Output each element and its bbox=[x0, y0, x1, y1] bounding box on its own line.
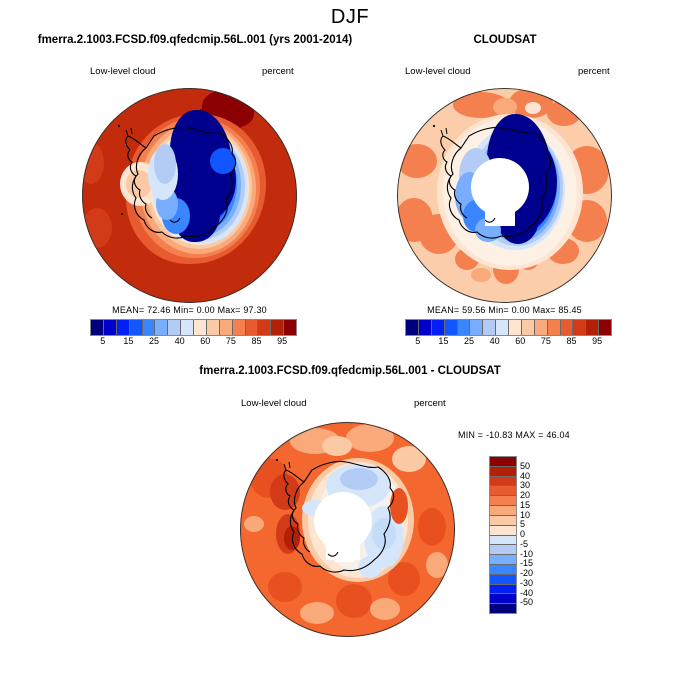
colorbar-tick-label: -30 bbox=[520, 578, 533, 588]
obs-units-label: percent bbox=[578, 66, 610, 77]
colorbar-tick-label: -15 bbox=[520, 558, 533, 568]
colorbar-tick-label: 15 bbox=[438, 336, 448, 346]
colorbar-swatch bbox=[432, 320, 445, 335]
model-colorbar[interactable] bbox=[90, 319, 297, 336]
coastline-outline bbox=[397, 88, 612, 303]
colorbar-swatch bbox=[130, 320, 143, 335]
model-colorbar-ticks: 515254060758595 bbox=[90, 336, 295, 348]
colorbar-tick-label: 5 bbox=[415, 336, 420, 346]
panel-title-difference: fmerra.2.1003.FCSD.f09.qfedcmip.56L.001 … bbox=[0, 365, 700, 377]
obs-map-disc bbox=[397, 88, 612, 303]
colorbar-swatch bbox=[490, 565, 516, 575]
colorbar-tick-label: 5 bbox=[100, 336, 105, 346]
obs-variable-label: Low-level cloud bbox=[405, 66, 470, 77]
colorbar-tick-label: 30 bbox=[520, 480, 530, 490]
colorbar-swatch bbox=[271, 320, 284, 335]
difference-map-disc bbox=[240, 422, 455, 637]
colorbar-tick-label: 75 bbox=[226, 336, 236, 346]
colorbar-tick-label: 0 bbox=[520, 529, 525, 539]
colorbar-tick-label: 50 bbox=[520, 461, 530, 471]
colorbar-swatch bbox=[483, 320, 496, 335]
colorbar-swatch bbox=[419, 320, 432, 335]
colorbar-swatch bbox=[535, 320, 548, 335]
panel-title-model: fmerra.2.1003.FCSD.f09.qfedcmip.56L.001 … bbox=[0, 34, 390, 46]
colorbar-swatch bbox=[490, 545, 516, 555]
colorbar-tick-label: 40 bbox=[175, 336, 185, 346]
colorbar-tick-label: 40 bbox=[490, 336, 500, 346]
colorbar-swatch bbox=[284, 320, 296, 335]
coastline-outline bbox=[240, 422, 455, 637]
colorbar-swatch bbox=[470, 320, 483, 335]
colorbar-tick-label: -40 bbox=[520, 588, 533, 598]
colorbar-swatch bbox=[490, 516, 516, 526]
coastline-outline bbox=[82, 88, 297, 303]
colorbar-swatch bbox=[490, 506, 516, 516]
colorbar-swatch bbox=[490, 457, 516, 467]
colorbar-tick-label: 75 bbox=[541, 336, 551, 346]
colorbar-tick-label: 85 bbox=[567, 336, 577, 346]
colorbar-swatch bbox=[490, 604, 516, 613]
colorbar-swatch bbox=[573, 320, 586, 335]
colorbar-tick-label: 10 bbox=[520, 510, 530, 520]
difference-variable-label: Low-level cloud bbox=[241, 398, 306, 409]
colorbar-swatch bbox=[233, 320, 246, 335]
colorbar-tick-label: 20 bbox=[520, 490, 530, 500]
model-variable-label: Low-level cloud bbox=[90, 66, 155, 77]
colorbar-tick-label: 60 bbox=[200, 336, 210, 346]
colorbar-swatch bbox=[143, 320, 156, 335]
colorbar-tick-label: -10 bbox=[520, 549, 533, 559]
model-units-label: percent bbox=[262, 66, 294, 77]
model-polar-map[interactable] bbox=[82, 88, 297, 303]
colorbar-swatch bbox=[561, 320, 574, 335]
colorbar-swatch bbox=[246, 320, 259, 335]
colorbar-swatch bbox=[406, 320, 419, 335]
colorbar-swatch bbox=[599, 320, 611, 335]
colorbar-tick-label: 40 bbox=[520, 471, 530, 481]
colorbar-tick-label: -20 bbox=[520, 568, 533, 578]
colorbar-swatch bbox=[490, 594, 516, 604]
colorbar-swatch bbox=[522, 320, 535, 335]
colorbar-tick-label: -5 bbox=[520, 539, 528, 549]
colorbar-swatch bbox=[117, 320, 130, 335]
colorbar-swatch bbox=[220, 320, 233, 335]
panel-title-obs: CLOUDSAT bbox=[390, 34, 620, 46]
colorbar-swatch bbox=[258, 320, 271, 335]
difference-units-label: percent bbox=[414, 398, 446, 409]
obs-colorbar[interactable] bbox=[405, 319, 612, 336]
colorbar-swatch bbox=[490, 477, 516, 487]
colorbar-tick-label: 15 bbox=[520, 500, 530, 510]
difference-polar-map[interactable] bbox=[240, 422, 455, 637]
difference-colorbar-ticks: 50403020151050-5-10-15-20-30-40-50 bbox=[520, 456, 560, 612]
figure-season-title: DJF bbox=[0, 6, 700, 29]
colorbar-swatch bbox=[490, 486, 516, 496]
colorbar-swatch bbox=[496, 320, 509, 335]
colorbar-swatch bbox=[181, 320, 194, 335]
colorbar-tick-label: 15 bbox=[123, 336, 133, 346]
model-stats-text: MEAN= 72.46 Min= 0.00 Max= 97.30 bbox=[82, 305, 297, 315]
colorbar-tick-label: 5 bbox=[520, 519, 525, 529]
colorbar-tick-label: 25 bbox=[464, 336, 474, 346]
colorbar-swatch bbox=[490, 555, 516, 565]
obs-colorbar-ticks: 515254060758595 bbox=[405, 336, 610, 348]
colorbar-tick-label: 85 bbox=[252, 336, 262, 346]
colorbar-swatch bbox=[509, 320, 522, 335]
colorbar-swatch bbox=[490, 536, 516, 546]
difference-colorbar[interactable] bbox=[489, 456, 517, 614]
colorbar-swatch bbox=[155, 320, 168, 335]
colorbar-swatch bbox=[548, 320, 561, 335]
obs-stats-text: MEAN= 59.56 Min= 0.00 Max= 85.45 bbox=[397, 305, 612, 315]
cloudsat-polar-map[interactable] bbox=[397, 88, 612, 303]
colorbar-tick-label: -50 bbox=[520, 597, 533, 607]
colorbar-swatch bbox=[194, 320, 207, 335]
colorbar-swatch bbox=[168, 320, 181, 335]
colorbar-tick-label: 95 bbox=[592, 336, 602, 346]
colorbar-swatch bbox=[207, 320, 220, 335]
colorbar-swatch bbox=[445, 320, 458, 335]
colorbar-swatch bbox=[586, 320, 599, 335]
colorbar-tick-label: 95 bbox=[277, 336, 287, 346]
model-map-disc bbox=[82, 88, 297, 303]
colorbar-swatch bbox=[104, 320, 117, 335]
colorbar-swatch bbox=[91, 320, 104, 335]
colorbar-swatch bbox=[490, 585, 516, 595]
colorbar-tick-label: 25 bbox=[149, 336, 159, 346]
colorbar-swatch bbox=[490, 467, 516, 477]
difference-stats-text: MIN = -10.83 MAX = 46.04 bbox=[458, 430, 570, 440]
colorbar-tick-label: 60 bbox=[515, 336, 525, 346]
colorbar-swatch bbox=[490, 496, 516, 506]
colorbar-swatch bbox=[458, 320, 471, 335]
colorbar-swatch bbox=[490, 526, 516, 536]
colorbar-swatch bbox=[490, 575, 516, 585]
